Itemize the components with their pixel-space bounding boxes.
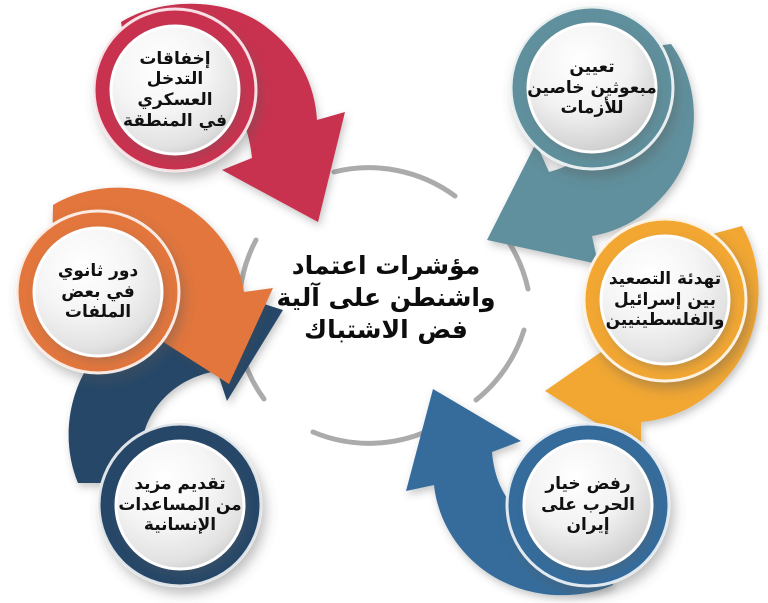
node-israel-palestine-deescalation[interactable] <box>583 218 747 382</box>
center-title: مؤشرات اعتماد واشنطن على آلية فض الاشتبا… <box>236 238 536 358</box>
node-military-failures[interactable] <box>93 8 257 172</box>
node-humanitarian-aid[interactable] <box>98 423 262 587</box>
infographic-canvas: مؤشرات اعتماد واشنطن على آلية فض الاشتبا… <box>0 0 768 603</box>
node-special-envoys[interactable] <box>510 6 674 170</box>
node-secondary-role[interactable] <box>16 210 180 374</box>
node-reject-war-iran[interactable] <box>506 423 670 587</box>
